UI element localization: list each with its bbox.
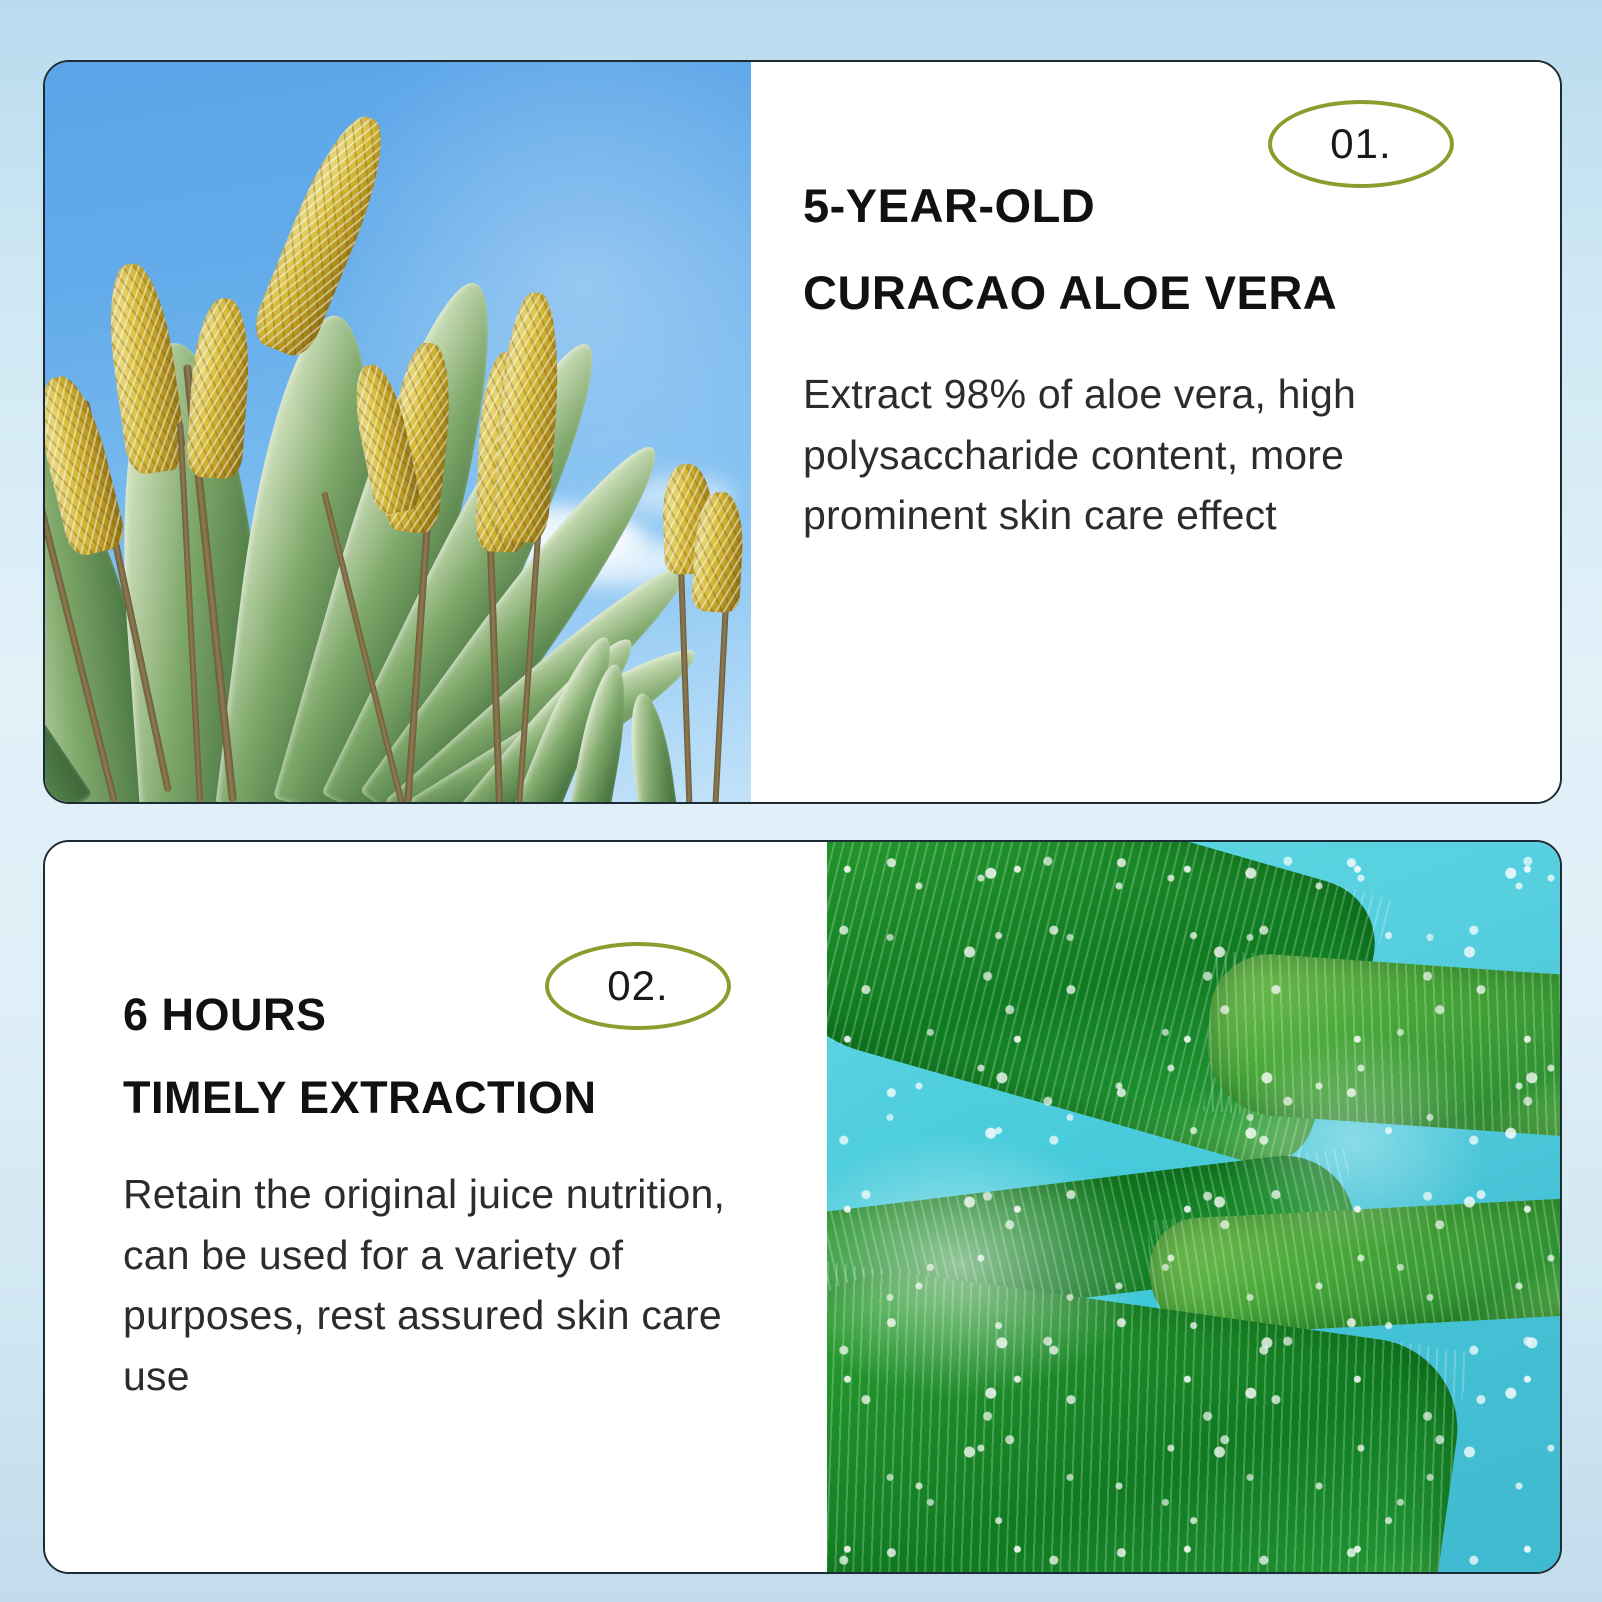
aloe-gel-photo [827, 842, 1560, 1572]
product-feature-page: 01. 5-YEAR-OLD CURACAO ALOE VERA Extract… [0, 0, 1602, 1602]
heading-line-1: 6 HOURS [123, 989, 327, 1040]
feature-card-2-text: 02. 6 HOURS TIMELY EXTRACTION Retain the… [45, 842, 827, 1572]
feature-card-2-body: Retain the original juice nutrition, can… [123, 1164, 763, 1407]
step-badge-02: 02. [545, 942, 731, 1030]
water-droplets [827, 842, 1560, 1572]
feature-card-2: 02. 6 HOURS TIMELY EXTRACTION Retain the… [43, 840, 1562, 1574]
feature-card-1-body: Extract 98% of aloe vera, high polysacch… [803, 364, 1500, 546]
heading-line-2: TIMELY EXTRACTION [123, 1075, 787, 1120]
aloe-field-photo [45, 62, 751, 802]
heading-line-2: CURACAO ALOE VERA [803, 269, 1500, 316]
feature-card-1: 01. 5-YEAR-OLD CURACAO ALOE VERA Extract… [43, 60, 1562, 804]
feature-card-1-text: 01. 5-YEAR-OLD CURACAO ALOE VERA Extract… [751, 62, 1560, 802]
feature-card-1-heading: 5-YEAR-OLD CURACAO ALOE VERA [803, 182, 1500, 316]
heading-line-1: 5-YEAR-OLD [803, 179, 1095, 232]
step-badge-01: 01. [1268, 100, 1454, 188]
